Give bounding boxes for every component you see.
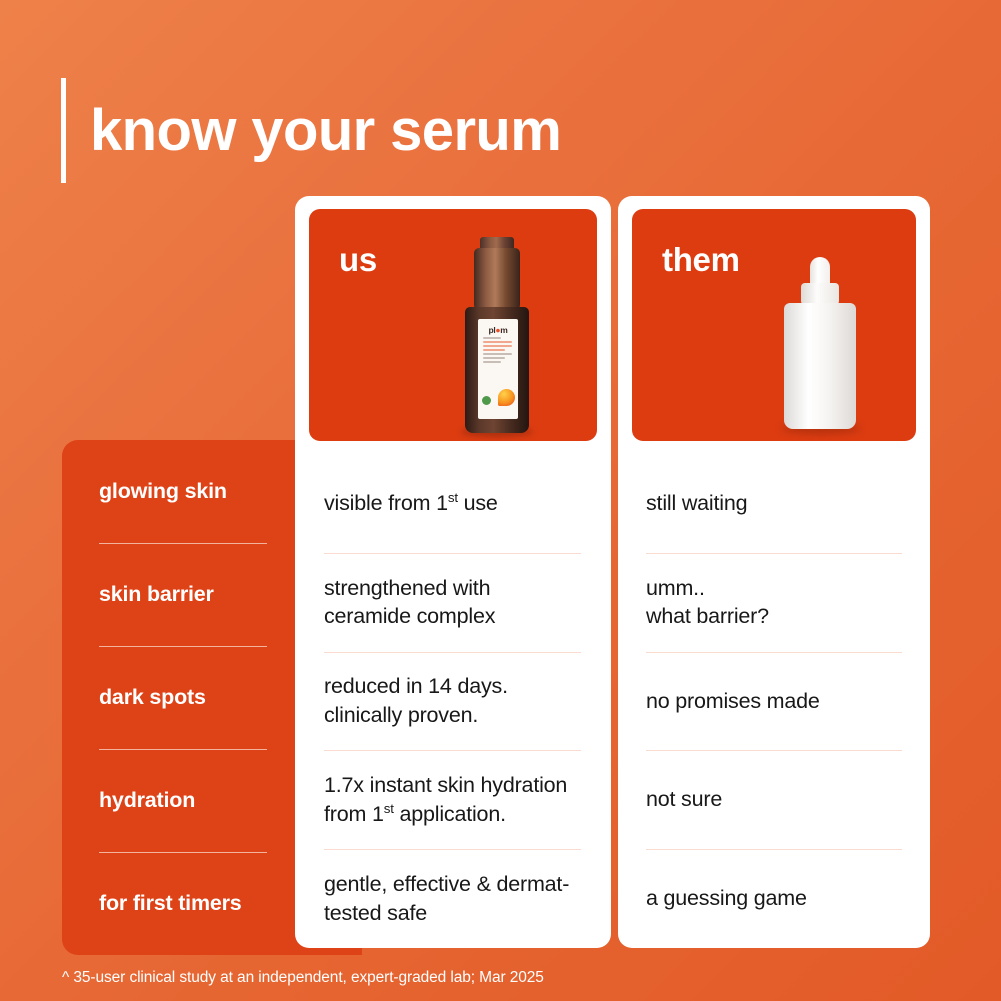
feature-label: for first timers	[99, 891, 242, 916]
eco-badge-icon	[482, 396, 491, 405]
label-line	[483, 361, 501, 363]
label-line	[483, 353, 512, 355]
plum-serum-bottle-icon: pl●m	[459, 237, 533, 433]
comparison-cells-us: visible from 1st use strengthened with c…	[295, 454, 611, 948]
comparison-column-them: them still waiting umm.. what barrier? n…	[618, 196, 930, 948]
bottle-body	[784, 303, 856, 429]
cell-text-them-1: umm.. what barrier?	[646, 574, 769, 631]
comparison-cell: visible from 1st use	[324, 454, 581, 553]
column-title-them: them	[662, 241, 740, 279]
cell-text-post: application.	[394, 802, 506, 826]
product-card-us: us pl●m	[309, 209, 597, 441]
cell-text-post: use	[458, 491, 498, 515]
cell-text-us-2: reduced in 14 days. clinically proven.	[324, 672, 581, 729]
comparison-cell: gentle, effective & dermat-tested safe	[324, 849, 581, 948]
fruit-illustration-icon	[498, 389, 515, 406]
feature-label: dark spots	[99, 685, 206, 710]
column-title-us: us	[339, 241, 377, 279]
comparison-cell: a guessing game	[646, 849, 902, 948]
generic-dropper-bottle-icon	[780, 257, 860, 429]
comparison-cell: strengthened with ceramide complex	[324, 553, 581, 652]
cell-text-pre: strengthened with ceramide complex	[324, 576, 495, 629]
label-line	[483, 341, 512, 343]
label-line	[483, 357, 505, 359]
cell-text-them-0: still waiting	[646, 489, 747, 518]
feature-label: glowing skin	[99, 479, 227, 504]
bottle-pump-collar	[474, 248, 520, 310]
comparison-cell: not sure	[646, 750, 902, 849]
comparison-cell: reduced in 14 days. clinically proven.	[324, 652, 581, 751]
page-title: know your serum	[61, 78, 681, 183]
cell-text-us-0: visible from 1st use	[324, 489, 498, 518]
cell-text-them-2: no promises made	[646, 687, 820, 716]
comparison-column-us: us pl●m	[295, 196, 611, 948]
promo-graphic: know your serum glowing skin skin barrie…	[0, 0, 1001, 1001]
bottle-neck	[801, 283, 839, 305]
title-accent-rule	[61, 78, 66, 183]
cell-text-them-3: not sure	[646, 785, 722, 814]
comparison-cell: 1.7x instant skin hydration from 1st app…	[324, 750, 581, 849]
cell-text-pre: reduced in 14 days. clinically proven.	[324, 674, 508, 727]
cell-text-us-3: 1.7x instant skin hydration from 1st app…	[324, 771, 581, 828]
title-text: know your serum	[90, 102, 561, 160]
comparison-cell: umm.. what barrier?	[646, 553, 902, 652]
cell-text-pre: gentle, effective & dermat-tested safe	[324, 872, 569, 925]
cell-text-us-4: gentle, effective & dermat-tested safe	[324, 870, 581, 927]
feature-label: skin barrier	[99, 582, 214, 607]
label-line	[483, 345, 512, 347]
comparison-cells-them: still waiting umm.. what barrier? no pro…	[618, 454, 930, 948]
brand-wordmark: pl●m	[482, 326, 514, 335]
footnote-disclaimer: ^ 35-user clinical study at an independe…	[62, 969, 544, 987]
product-card-them: them	[632, 209, 916, 441]
cell-text-them-4: a guessing game	[646, 884, 807, 913]
cell-text-us-1: strengthened with ceramide complex	[324, 574, 581, 631]
feature-label: hydration	[99, 788, 195, 813]
label-line	[483, 349, 505, 351]
bottle-label: pl●m	[478, 319, 518, 419]
cell-text-pre: visible from 1	[324, 491, 448, 515]
cell-text-sup: st	[384, 801, 394, 816]
comparison-cell: no promises made	[646, 652, 902, 751]
label-line	[483, 337, 501, 339]
bottle-body: pl●m	[465, 307, 529, 433]
comparison-cell: still waiting	[646, 454, 902, 553]
cell-text-sup: st	[448, 490, 458, 505]
